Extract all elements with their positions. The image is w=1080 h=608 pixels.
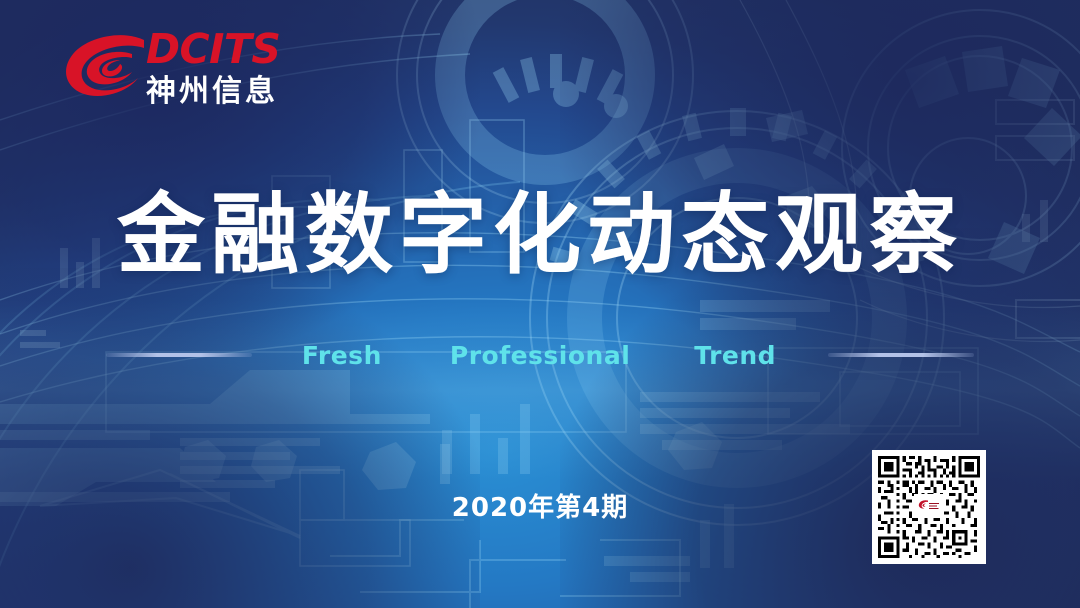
dcits-swirl-mark [62, 30, 148, 106]
logo-wordmark: DCITS 神州信息 [146, 26, 296, 110]
tagline-word-fresh: Fresh [302, 341, 382, 370]
vignette-bottom-left [0, 268, 480, 608]
qr-center-logo [914, 494, 944, 518]
tagline-rule-right [828, 353, 974, 357]
qr-code[interactable] [872, 450, 986, 564]
qr-code-modules [878, 456, 980, 558]
dcits-logo: DCITS 神州信息 [62, 26, 292, 114]
tagline-row: Fresh Professional Trend [0, 341, 1080, 369]
tagline-word-trend: Trend [694, 341, 776, 370]
dcits-swirl-mark-small [918, 499, 940, 513]
logo-english-text: DCITS [146, 26, 296, 72]
tagline-word-professional: Professional [450, 341, 630, 370]
page-title: 金融数字化动态观察 [0, 185, 1080, 285]
logo-chinese-text: 神州信息 [146, 74, 296, 110]
poster-canvas: DCITS 神州信息 金融数字化动态观察 Fresh Professional … [0, 0, 1080, 608]
tagline-rule-left [106, 353, 252, 357]
